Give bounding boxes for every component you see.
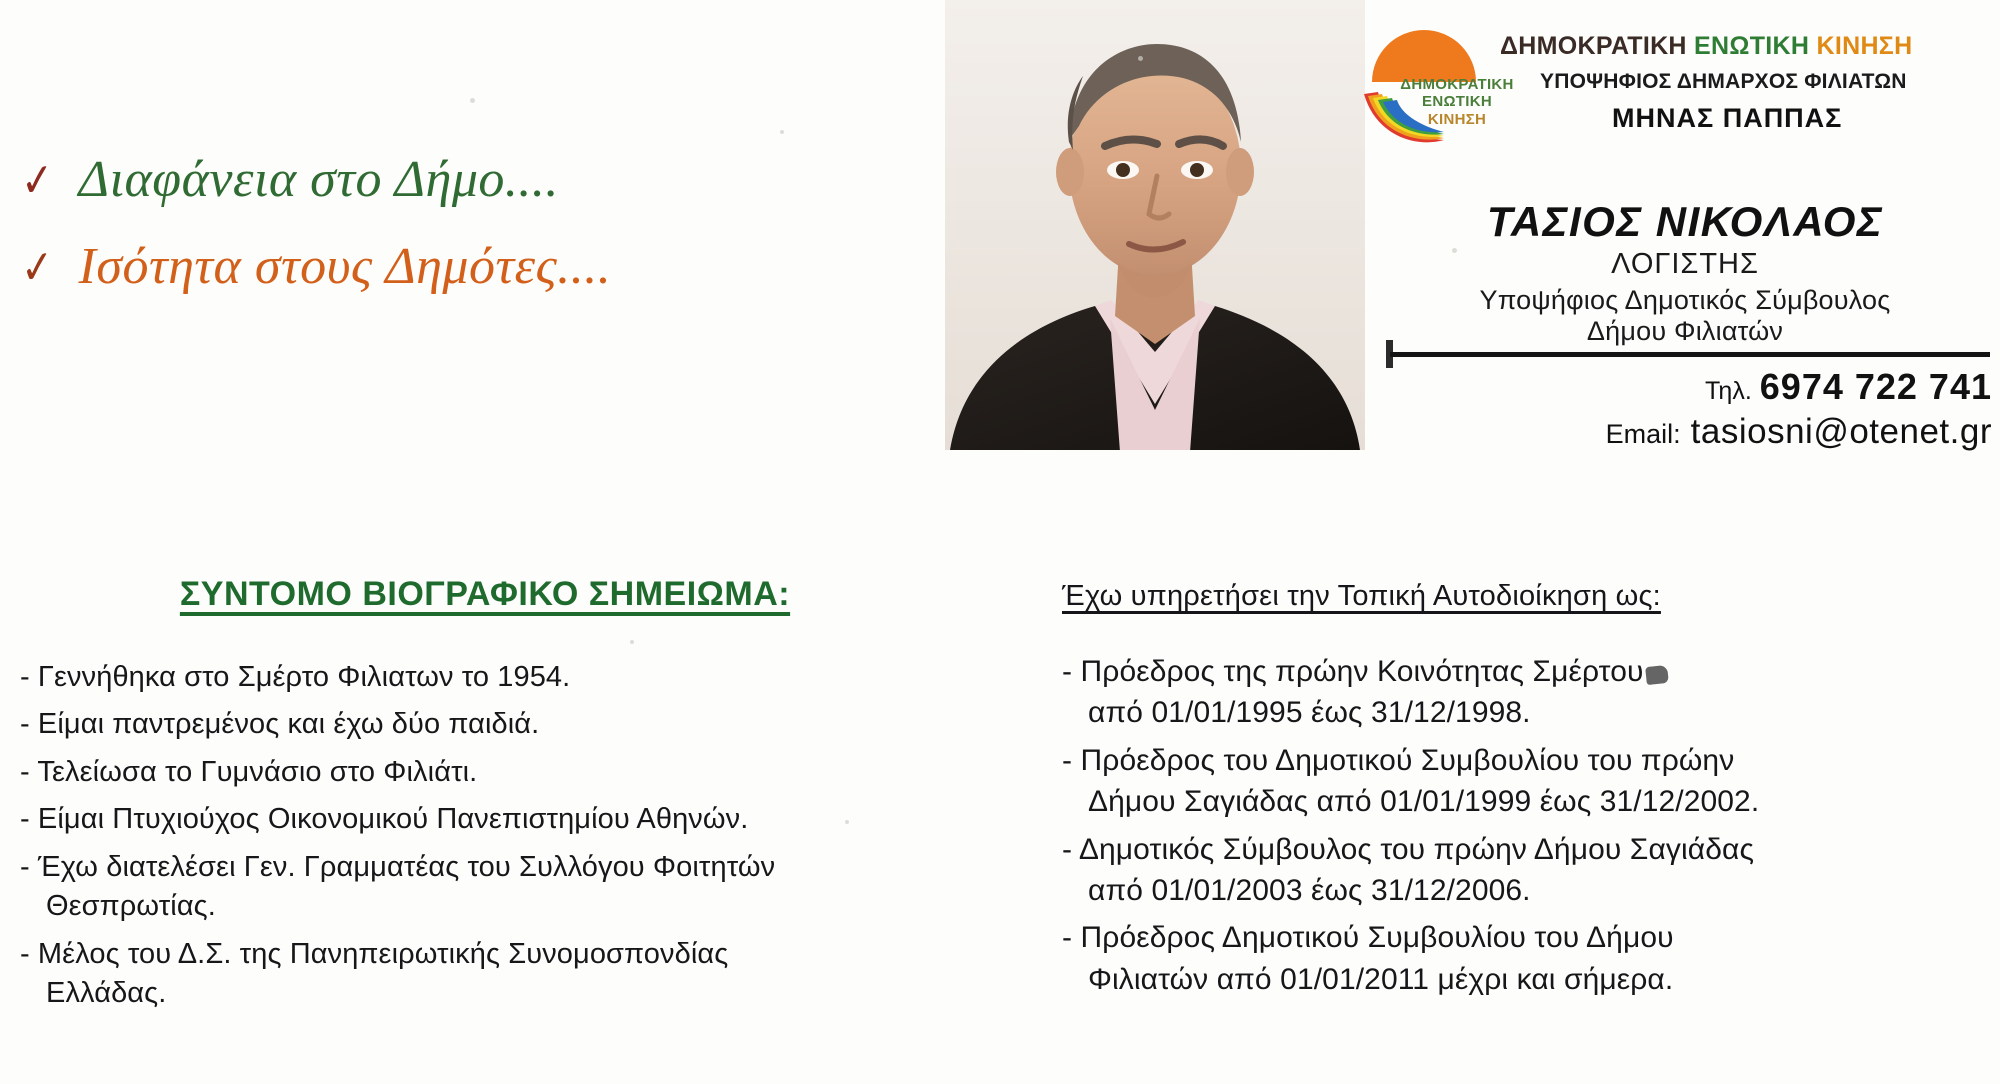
service-item-line-2: Δήμου Σαγιάδας από 01/01/1999 έως 31/12/…	[1062, 781, 1992, 822]
bio-item-line-1: - Γεννήθηκα στο Σμέρτο Φιλιατων το 1954.	[20, 661, 570, 693]
candidate-role-line-1: Υποψήφιος Δημοτικός Σύμβουλος	[1380, 285, 1990, 316]
telephone-row: Τηλ.6974 722 741	[1380, 366, 1992, 408]
candidate-portrait-photo	[945, 0, 1365, 450]
logo-wordmark: ΔΗΜΟΚΡΑΤΙΚΗ ΕΝΩΤΙΚΗ ΚΙΝΗΣΗ	[1398, 76, 1516, 128]
email-row: Email:tasiosni@otenet.gr	[1380, 412, 1992, 452]
scan-speck	[1452, 248, 1457, 253]
scan-speck	[780, 130, 784, 134]
list-item: - Είμαι παντρεμένος και έχω δύο παιδιά.	[20, 705, 950, 744]
slogan-row-2: ✓ Ισότητα στους Δημότες....	[18, 237, 798, 296]
ink-smudge-mark	[1645, 665, 1669, 685]
list-item: - Πρόεδρος Δημοτικού Συμβουλίου του Δήμο…	[1062, 917, 1992, 1000]
campaign-card: ✓ Διαφάνεια στο Δήμο.... ✓ Ισότητα στους…	[0, 0, 2000, 1084]
party-name-part-2: ΕΝΩΤΙΚΗ	[1694, 32, 1809, 60]
scan-speck	[1138, 56, 1143, 61]
scan-speck	[845, 820, 849, 824]
service-item-line-2: Φιλιατών από 01/01/2011 μέχρι και σήμερα…	[1062, 959, 1992, 1000]
contact-block: Τηλ.6974 722 741 Email:tasiosni@otenet.g…	[1380, 366, 1992, 452]
email-label: Email:	[1606, 419, 1681, 449]
slogan-text-1: Διαφάνεια στο Δήμο....	[79, 150, 559, 209]
bio-heading: ΣΥΝΤΟΜΟ ΒΙΟΓΡΑΦΙΚΟ ΣΗΜΕΙΩΜΑ:	[20, 575, 950, 614]
logo-word-1: ΔΗΜΟΚΡΑΤΙΚΗ	[1398, 76, 1516, 93]
list-item: - Πρόεδρος της πρώην Κοινότητας Σμέρτου …	[1062, 651, 1992, 734]
bio-item-line-1: - Τελείωσα το Γυμνάσιο στο Φιλιάτι.	[20, 756, 477, 788]
email-address[interactable]: tasiosni@otenet.gr	[1691, 412, 1992, 451]
bio-item-line-2: Ελλάδας.	[20, 974, 950, 1013]
list-item: - Δημοτικός Σύμβουλος του πρώην Δήμου Σα…	[1062, 829, 1992, 912]
list-item: - Πρόεδρος του Δημοτικού Συμβουλίου του …	[1062, 740, 1992, 823]
scan-speck	[630, 640, 634, 644]
service-item-line-2: από 01/01/1995 έως 31/12/1998.	[1062, 692, 1992, 733]
service-item-line-1: - Πρόεδρος Δημοτικού Συμβουλίου του Δήμο…	[1062, 921, 1674, 954]
bio-item-line-2: Θεσπρωτίας.	[20, 887, 950, 926]
slogan-list: ✓ Διαφάνεια στο Δήμο.... ✓ Ισότητα στους…	[18, 150, 798, 324]
candidate-profession: ΛΟΓΙΣΤΗΣ	[1380, 248, 1990, 281]
contact-divider	[1390, 352, 1990, 357]
bio-column: ΣΥΝΤΟΜΟ ΒΙΟΓΡΑΦΙΚΟ ΣΗΜΕΙΩΜΑ: - Γεννήθηκα…	[20, 575, 950, 1022]
logo-word-2: ΕΝΩΤΙΚΗ	[1398, 93, 1516, 110]
slogan-text-2: Ισότητα στους Δημότες....	[79, 237, 612, 296]
telephone-label: Τηλ.	[1705, 377, 1752, 405]
bio-item-line-1: - Έχω διατελέσει Γεν. Γραμματέας του Συλ…	[20, 851, 775, 883]
list-item: - Μέλος του Δ.Σ. της Πανηπειρωτικής Συνο…	[20, 935, 950, 1014]
service-item-line-1: - Πρόεδρος του Δημοτικού Συμβουλίου του …	[1062, 744, 1734, 777]
candidate-name: ΤΑΣΙΟΣ ΝΙΚΟΛΑΟΣ	[1380, 198, 1990, 246]
candidate-identity: ΤΑΣΙΟΣ ΝΙΚΟΛΑΟΣ ΛΟΓΙΣΤΗΣ Υποψήφιος Δημοτ…	[1380, 198, 1990, 347]
scan-speck	[470, 98, 475, 103]
slogan-row-1: ✓ Διαφάνεια στο Δήμο....	[18, 150, 798, 209]
service-item-line-1: - Δημοτικός Σύμβουλος του πρώην Δήμου Σα…	[1062, 833, 1754, 866]
checkmark-icon: ✓	[20, 244, 55, 293]
mayor-candidate-role: ΥΠΟΨΗΦΙΟΣ ΔΗΜΑΡΧΟΣ ΦΙΛΙΑΤΩΝ	[1540, 70, 1907, 94]
service-heading: Έχω υπηρετήσει την Τοπική Αυτοδιοίκηση ω…	[1062, 580, 1992, 613]
list-item: - Έχω διατελέσει Γεν. Γραμματέας του Συλ…	[20, 848, 950, 927]
list-item: - Γεννήθηκα στο Σμέρτο Φιλιατων το 1954.	[20, 658, 950, 697]
bio-item-line-1: - Είμαι παντρεμένος και έχω δύο παιδιά.	[20, 708, 539, 740]
party-name-part-3: ΚΙΝΗΣΗ	[1816, 32, 1912, 60]
list-item: - Τελείωσα το Γυμνάσιο στο Φιλιάτι.	[20, 753, 950, 792]
logo-word-3: ΚΙΝΗΣΗ	[1398, 111, 1516, 128]
candidate-role-line-2: Δήμου Φιλιατών	[1380, 316, 1990, 347]
service-item-line-1: - Πρόεδρος της πρώην Κοινότητας Σμέρτου	[1062, 655, 1644, 688]
mayor-candidate-name: ΜΗΝΑΣ ΠΑΠΠΑΣ	[1612, 103, 1842, 134]
telephone-number[interactable]: 6974 722 741	[1760, 366, 1992, 407]
party-name: ΔΗΜΟΚΡΑΤΙΚΗ ΕΝΩΤΙΚΗ ΚΙΝΗΣΗ	[1500, 32, 1912, 61]
service-column: Έχω υπηρετήσει την Τοπική Αυτοδιοίκηση ω…	[1062, 580, 1992, 1006]
party-name-part-1: ΔΗΜΟΚΡΑΤΙΚΗ	[1500, 32, 1687, 60]
checkmark-icon: ✓	[20, 157, 55, 206]
bio-item-line-1: - Είμαι Πτυχιούχος Οικονομικού Πανεπιστη…	[20, 803, 748, 835]
bio-item-line-1: - Μέλος του Δ.Σ. της Πανηπειρωτικής Συνο…	[20, 938, 728, 970]
service-item-line-2: από 01/01/2003 έως 31/12/2006.	[1062, 870, 1992, 911]
list-item: - Είμαι Πτυχιούχος Οικονομικού Πανεπιστη…	[20, 800, 950, 839]
